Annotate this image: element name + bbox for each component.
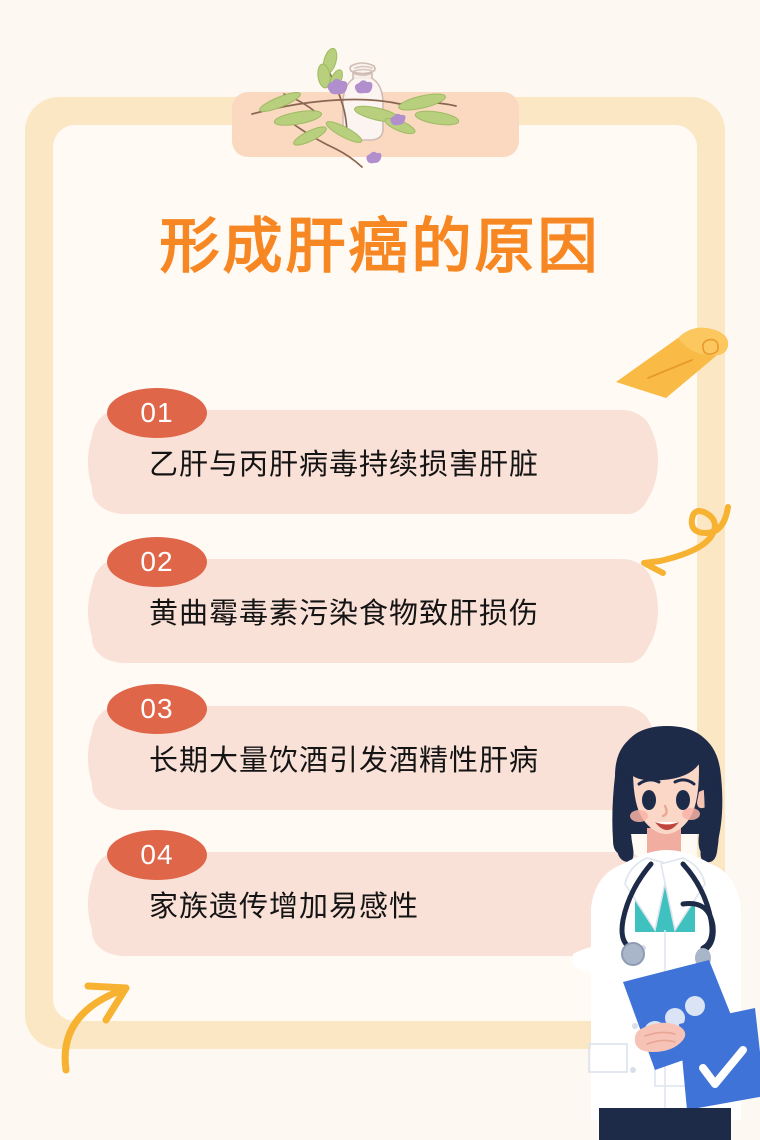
list-item-text: 家族遗传增加易感性 xyxy=(149,890,419,924)
list-item-text: 乙肝与丙肝病毒持续损害肝脏 xyxy=(149,448,539,482)
list-item-text: 长期大量饮酒引发酒精性肝病 xyxy=(149,744,539,778)
list-item-number: 01 xyxy=(140,399,173,427)
poster-canvas: 形成肝癌的原因 01 乙肝与丙肝病毒持续损害肝脏 02 黄曲霉毒素污染食物致肝 xyxy=(0,0,760,1140)
doctor-illustration xyxy=(563,724,760,1140)
list-item-badge: 02 xyxy=(107,537,207,587)
list-item-number: 04 xyxy=(140,841,173,869)
list-item-badge: 03 xyxy=(107,684,207,734)
list-item-badge: 01 xyxy=(107,388,207,438)
list-item-number: 02 xyxy=(140,548,173,576)
list-item-number: 03 xyxy=(140,695,173,723)
list-item-text: 黄曲霉毒素污染食物致肝损伤 xyxy=(149,597,539,631)
list-item-badge: 04 xyxy=(107,830,207,880)
